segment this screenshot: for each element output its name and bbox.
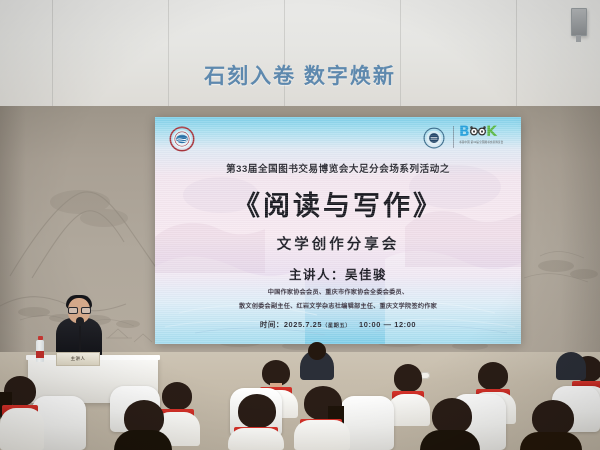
speaker-nameplate: 主讲人 [56,352,100,366]
adult-attendee-right [556,352,586,380]
upper-wall: 石刻入卷 数字焕新 [0,0,600,106]
water-bottle [36,340,44,362]
student-shirt [0,408,44,450]
slide-speaker-line: 主讲人：吴佳骏 [155,264,521,283]
student-front-4 [294,386,350,450]
book-expo-logo: B K 书香中国 第33届全国图书交易博览会 [459,125,507,151]
wall-slogan-text: 石刻入卷 数字焕新 [0,60,600,90]
student-front-2 [114,400,172,450]
student-shirt [294,420,350,450]
wall-speaker-icon [571,8,587,36]
slide-text-block: 第33届全国图书交易博览会大足分会场系列活动之 《阅读与写作》 文学创作分享会 … [155,161,521,330]
organizer-seal-logo-icon [169,126,195,152]
wall-panel-seam [168,0,169,106]
student-front-5 [420,398,480,450]
panda-icon [470,126,486,137]
student-front-6 [520,400,582,450]
wall-shadow-left [0,106,26,352]
wall-panel-seam [400,0,401,106]
student-shoulders [114,430,172,450]
time-date: 2025.7.25 [284,320,322,329]
conference-room-photo: 石刻入卷 数字焕新 [0,0,600,450]
student-head [394,364,422,392]
slide-sub-title: 文学创作分享会 [155,233,521,254]
student-head [532,400,574,436]
student-shoulders [520,432,582,450]
slide-series-line: 第33届全国图书交易博览会大足分会场系列活动之 [155,161,521,175]
student-shirt [228,428,284,450]
book-logo-subtitle: 书香中国 第33届全国图书交易博览会 [459,141,507,144]
student-front-1 [0,376,44,450]
wall-panel-seam [516,0,517,106]
presenter-glasses-icon [68,307,90,312]
microphone-stand [79,322,81,356]
wall-shadow-right [560,106,600,352]
wall-panel-seam [52,0,53,106]
slide-main-title: 《阅读与写作》 [155,184,521,223]
microphone-head-icon [76,317,84,326]
institution-seal-logo-icon [423,127,445,149]
projection-screen: B K 书香中国 第33届全国图书交易博览会 第33届全 [155,117,521,344]
presentation-slide: B K 书香中国 第33届全国图书交易博览会 第33届全 [155,117,521,344]
slide-credentials-1: 中国作家协会会员、重庆市作家协会全委会委员、 [155,288,521,297]
adult-attendee-head [308,342,326,360]
bottle-cap [38,336,43,340]
student-head [432,398,472,434]
time-weekday: （星期五） [322,323,351,329]
student-shoulders [420,430,480,450]
wall-panel-seam [284,0,285,106]
bottle-label [36,351,44,358]
slide-credentials-2: 散文创委会副主任、红岩文学杂志社编辑部主任、重庆文学院签约作家 [155,302,521,311]
slide-time-line: 时间：2025.7.25（星期五） 10:00 — 12:00 [155,319,521,330]
student-front-3 [228,394,284,450]
logo-divider [453,126,454,148]
student-head [238,394,276,428]
student-head [478,362,508,390]
time-range: 10:00 — 12:00 [359,320,416,329]
time-label: 时间： [260,320,284,329]
book-wordmark: B K [459,125,507,139]
